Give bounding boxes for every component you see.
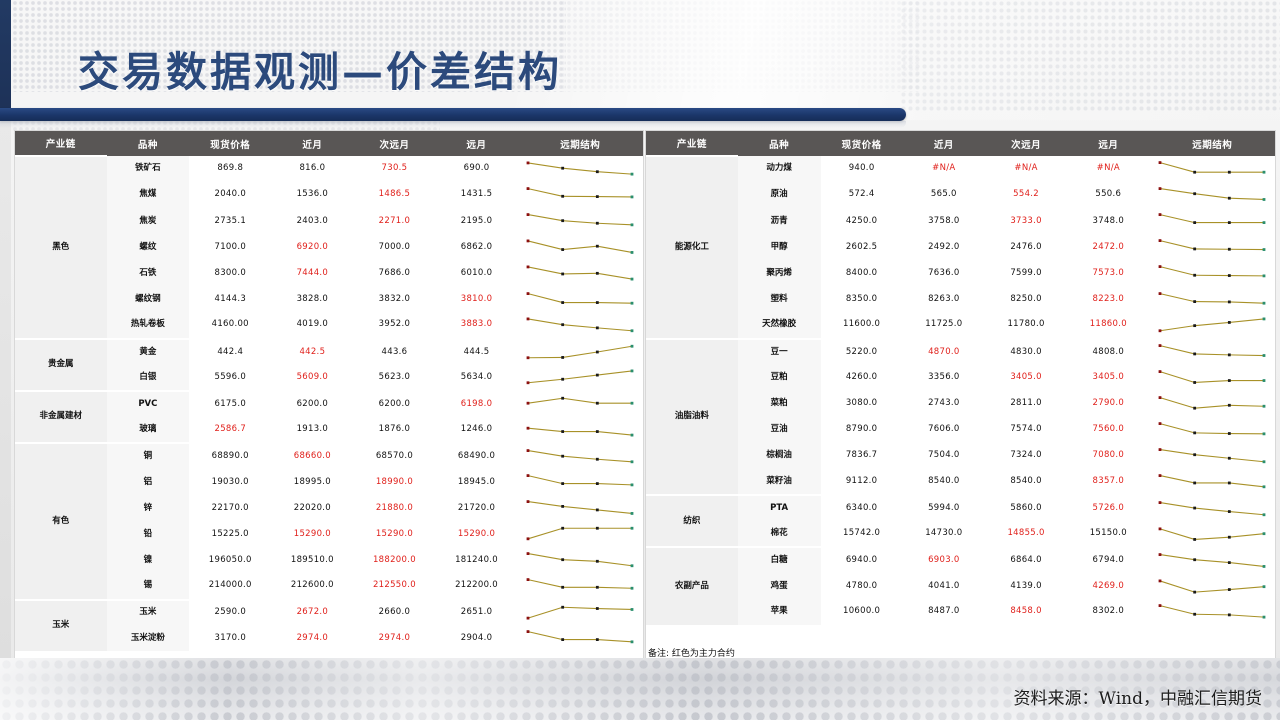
header-row: 产业链品种现货价格近月次远月远月远期结构 [646,131,1275,156]
near-month-cell: #N/A [903,156,985,182]
forward-curve-sparkline [524,183,636,207]
spot-price-cell: 4160.00 [189,313,271,339]
industry-chain-cell: 非金属建材 [15,391,107,443]
sparkline-segment [528,215,563,221]
sparkline-marker-mid [1193,274,1196,277]
sparkline-marker-mid [562,195,565,198]
variety-cell: 苹果 [738,600,821,626]
sparkline-marker-start [1159,422,1162,425]
sparkline-marker-mid [596,222,599,225]
sparkline-marker-mid [562,559,565,562]
table-row[interactable]: 螺纹7100.06920.07000.06862.0 [15,234,643,260]
far-month-cell: 15150.0 [1067,521,1149,547]
sparkline-segment [563,375,598,379]
table-row[interactable]: 沥青4250.03758.03733.03748.0 [646,208,1275,234]
near-month-cell: 7444.0 [271,260,353,286]
table-row[interactable]: 玉米淀粉3170.02974.02974.02904.0 [15,626,643,652]
sparkline-marker-start [1159,604,1162,607]
forward-structure-cell [518,417,643,443]
sparkline-marker-start [1159,579,1162,582]
sparkline-segment [1160,346,1195,354]
variety-cell: 镍 [107,547,190,573]
table-row[interactable]: 聚丙烯8400.07636.07599.07573.0 [646,260,1275,286]
near-month-cell: 22020.0 [271,495,353,521]
sparkline-segment [598,459,633,462]
table-row[interactable]: 菜籽油9112.08540.08540.08357.0 [646,469,1275,495]
forward-structure-cell [518,547,643,573]
title-underline-band [0,108,906,121]
far-month-cell: 3748.0 [1067,208,1149,234]
forward-curve-sparkline [1156,340,1268,364]
sparkline-segment [1195,589,1230,592]
far-month-cell: 7573.0 [1067,260,1149,286]
far-month-cell: 2651.0 [436,600,518,626]
forward-structure-cell [1149,313,1275,339]
industry-chain-cell: 玉米 [15,600,107,652]
far-month-cell: 7560.0 [1067,417,1149,443]
sparkline-marker-end [1263,379,1266,382]
sparkline-marker-mid [1228,561,1231,564]
left-edge-strip [0,118,11,720]
table-row[interactable]: 铅15225.015290.015290.015290.0 [15,521,643,547]
sparkline-segment [1230,534,1265,538]
forward-curve-sparkline [524,340,636,364]
sparkline-marker-mid [562,397,565,400]
table-row[interactable]: 原油572.4565.0554.2550.6 [646,182,1275,208]
sparkline-marker-mid [596,586,599,589]
spot-price-cell: 572.4 [821,182,903,208]
sparkline-marker-mid [596,301,599,304]
sparkline-marker-mid [562,273,565,276]
variety-cell: 黄金 [107,339,190,365]
sparkline-marker-mid [562,505,565,508]
table-row[interactable]: 焦煤2040.01536.01486.51431.5 [15,182,643,208]
sparkline-marker-end [631,565,634,568]
sparkline-segment [528,380,563,384]
near-month-cell: 18995.0 [271,469,353,495]
table-row[interactable]: 热轧卷板4160.004019.03952.03883.0 [15,313,643,339]
column-header-5: 远月 [1067,131,1149,156]
forward-curve-sparkline [1156,575,1268,599]
table-row[interactable]: 苹果10600.08487.08458.08302.0 [646,600,1275,626]
industry-chain-cell: 有色 [15,443,107,600]
spot-price-cell: 6175.0 [189,391,271,417]
table-row[interactable]: 玉米玉米2590.02672.02660.02651.0 [15,600,643,626]
table-row[interactable]: 纺织PTA6340.05994.05860.05726.0 [646,495,1275,521]
sparkline-segment [1195,380,1230,382]
forward-curve-sparkline [524,574,636,598]
variety-cell: 聚丙烯 [738,260,821,286]
variety-cell: 铁矿石 [107,156,190,182]
sparkline-segment [598,510,633,514]
sparkline-segment [1230,458,1265,462]
far-month-cell: 7080.0 [1067,443,1149,469]
sparkline-segment [1160,215,1195,223]
near-month-cell: 14730.0 [903,521,985,547]
near-month-cell: 212600.0 [271,574,353,600]
next-far-month-cell: 443.6 [353,339,435,365]
forward-curve-sparkline [1156,288,1268,312]
sparkline-marker-mid [1193,558,1196,561]
source-note: 资料来源：Wind，中融汇信期货 [1014,684,1262,709]
sparkline-segment [598,172,633,174]
forward-structure-cell [518,574,643,600]
forward-curve-sparkline [524,261,636,285]
sparkline-marker-mid [1193,538,1196,541]
sparkline-segment [1230,511,1265,514]
sparkline-segment [598,346,633,352]
variety-cell: 沥青 [738,208,821,234]
sparkline-marker-mid [1228,171,1231,174]
sparkline-marker-end [1263,565,1266,568]
next-far-month-cell: 14855.0 [985,521,1067,547]
sparkline-marker-mid [562,378,565,381]
far-month-cell: 11860.0 [1067,313,1149,339]
spot-price-cell: 4780.0 [821,574,903,600]
sparkline-segment [1230,586,1265,589]
sparkline-marker-start [1159,240,1162,243]
forward-curve-sparkline [1156,157,1268,181]
near-month-cell: 8540.0 [903,469,985,495]
sparkline-segment [1160,502,1195,507]
table-left-grid: 产业链品种现货价格近月次远月远月远期结构 黑色铁矿石869.8816.0730.… [15,131,643,653]
sparkline-marker-start [1159,448,1162,451]
table-row[interactable]: 黑色铁矿石869.8816.0730.5690.0 [15,156,643,182]
industry-chain-cell: 黑色 [15,156,107,339]
sparkline-segment [598,302,633,303]
near-month-cell: 2743.0 [903,391,985,417]
table-row[interactable]: 油脂油料豆一5220.04870.04830.04808.0 [646,339,1275,365]
spot-price-cell: 214000.0 [189,574,271,600]
far-month-cell: 550.6 [1067,182,1149,208]
sparkline-marker-mid [562,301,565,304]
sparkline-marker-end [1263,405,1266,408]
table-row[interactable]: 鸡蛋4780.04041.04139.04269.0 [646,574,1275,600]
table-row[interactable]: 贵金属黄金442.4442.5443.6444.5 [15,339,643,365]
column-header-1: 品种 [107,131,190,156]
variety-cell: 热轧卷板 [107,313,190,339]
table-row[interactable]: 棕榈油7836.77504.07324.07080.0 [646,443,1275,469]
forward-curve-sparkline [1156,366,1268,390]
variety-cell: 菜籽油 [738,469,821,495]
table-right-grid: 产业链品种现货价格近月次远月远月远期结构 能源化工动力煤940.0#N/A#N/… [646,131,1275,627]
near-month-cell: 6903.0 [903,547,985,573]
sparkline-marker-end [1263,301,1266,304]
sparkline-marker-mid [596,402,599,405]
sparkline-marker-end [1263,616,1266,619]
column-header-6: 远期结构 [518,131,643,156]
sparkline-marker-end [1263,275,1266,278]
forward-curve-sparkline [524,417,636,441]
sparkline-marker-end [1263,248,1266,251]
table-row[interactable]: 非金属建材PVC6175.06200.06200.06198.0 [15,391,643,417]
next-far-month-cell: 2271.0 [353,208,435,234]
forward-structure-cell [1149,260,1275,286]
sparkline-segment [528,189,563,197]
sparkline-marker-start [527,630,530,633]
spot-price-cell: 2602.5 [821,234,903,260]
forward-structure-cell [518,156,643,182]
forward-curve-sparkline [524,522,636,546]
sparkline-segment [598,223,633,225]
price-spread-table-right: 产业链品种现货价格近月次远月远月远期结构 能源化工动力煤940.0#N/A#N/… [645,130,1276,662]
spot-price-cell: 7836.7 [821,443,903,469]
near-month-cell: 5994.0 [903,495,985,521]
next-far-month-cell: 2660.0 [353,600,435,626]
near-month-cell: 4019.0 [271,313,353,339]
spot-price-cell: 869.8 [189,156,271,182]
near-month-cell: 4870.0 [903,339,985,365]
forward-structure-cell [518,365,643,391]
forward-structure-cell [1149,182,1275,208]
forward-structure-cell [1149,417,1275,443]
next-far-month-cell: 5860.0 [985,495,1067,521]
sparkline-marker-mid [1228,321,1231,324]
page-title: 交易数据观测—价差结构 [78,38,562,98]
variety-cell: 原油 [738,182,821,208]
near-month-cell: 15290.0 [271,521,353,547]
spot-price-cell: 4260.0 [821,365,903,391]
far-month-cell: 8302.0 [1067,600,1149,626]
far-month-cell: 2195.0 [436,208,518,234]
forward-curve-sparkline [1156,418,1268,442]
variety-cell: 玉米 [107,600,190,626]
table-row[interactable]: 甲醇2602.52492.02476.02472.0 [646,234,1275,260]
far-month-cell: 2790.0 [1067,391,1149,417]
industry-chain-cell: 纺织 [646,495,738,547]
forward-structure-cell [518,391,643,417]
sparkline-segment [528,632,563,640]
table-row[interactable]: 菜粕3080.02743.02811.02790.0 [646,391,1275,417]
table-left-head: 产业链品种现货价格近月次远月远月远期结构 [15,131,643,156]
sparkline-segment [1230,301,1265,302]
far-month-cell: 6862.0 [436,234,518,260]
far-month-cell: 6010.0 [436,260,518,286]
sparkline-marker-mid [596,509,599,512]
sparkline-segment [1160,555,1195,560]
sparkline-segment [563,507,598,511]
sparkline-segment [1160,163,1195,173]
spot-price-cell: 442.4 [189,339,271,365]
table-row[interactable]: 石铁8300.07444.07686.06010.0 [15,260,643,286]
forward-structure-cell [518,208,643,234]
sparkline-marker-mid [1228,457,1231,460]
variety-cell: 白银 [107,365,190,391]
sparkline-segment [528,399,563,404]
column-header-0: 产业链 [646,131,738,156]
forward-structure-cell [1149,600,1275,626]
sparkline-marker-mid [562,482,565,485]
forward-curve-sparkline [524,496,636,520]
forward-curve-sparkline [1156,497,1268,521]
table-row[interactable]: 豆油8790.07606.07574.07560.0 [646,417,1275,443]
industry-chain-cell: 贵金属 [15,339,107,391]
far-month-cell: 444.5 [436,339,518,365]
sparkline-marker-mid [1193,590,1196,593]
sparkline-segment [1195,508,1230,512]
sparkline-segment [1160,189,1195,194]
spot-price-cell: 10600.0 [821,600,903,626]
sparkline-marker-mid [1193,481,1196,484]
far-month-cell: 3810.0 [436,286,518,312]
forward-curve-sparkline [524,445,636,469]
sparkline-segment [1230,198,1265,199]
column-header-0: 产业链 [15,131,107,156]
next-far-month-cell: 1876.0 [353,417,435,443]
near-month-cell: 6920.0 [271,234,353,260]
sparkline-marker-mid [562,527,565,530]
variety-cell: PTA [738,495,821,521]
sparkline-marker-start [527,187,530,190]
sparkline-marker-end [631,329,634,332]
near-month-cell: 7636.0 [903,260,985,286]
variety-cell: 铅 [107,521,190,547]
near-month-cell: 2403.0 [271,208,353,234]
far-month-cell: 15290.0 [436,521,518,547]
table-row[interactable]: 塑料8350.08263.08250.08223.0 [646,286,1275,312]
sparkline-marker-end [1263,485,1266,488]
forward-curve-sparkline [524,601,636,625]
spot-price-cell: 15742.0 [821,521,903,547]
sparkline-marker-mid [596,351,599,354]
sparkline-marker-end [631,402,634,405]
forward-structure-cell [1149,495,1275,521]
spot-price-cell: 940.0 [821,156,903,182]
next-far-month-cell: 7324.0 [985,443,1067,469]
table-row[interactable]: 玻璃2586.71913.01876.01246.0 [15,417,643,443]
forward-curve-sparkline [1156,549,1268,573]
table-row[interactable]: 锌22170.022020.021880.021720.0 [15,495,643,521]
next-far-month-cell: 212550.0 [353,574,435,600]
sparkline-marker-end [631,278,634,281]
sparkline-marker-start [527,402,530,405]
next-far-month-cell: 2974.0 [353,626,435,652]
far-month-cell: 18945.0 [436,469,518,495]
table-row[interactable]: 镍196050.0189510.0188200.0181240.0 [15,547,643,573]
forward-curve-sparkline [524,209,636,233]
sparkline-marker-mid [1193,192,1196,195]
next-far-month-cell: 6864.0 [985,547,1067,573]
sparkline-segment [1195,537,1230,539]
sparkline-segment [1160,475,1195,482]
far-month-cell: 1431.5 [436,182,518,208]
column-header-3: 近月 [271,131,353,156]
column-header-2: 现货价格 [821,131,903,156]
sparkline-marker-mid [1228,248,1231,251]
sparkline-marker-mid [1228,300,1231,303]
forward-structure-cell [1149,234,1275,260]
sparkline-segment [528,580,563,588]
next-far-month-cell: 3733.0 [985,208,1067,234]
table-row[interactable]: 豆粕4260.03356.03405.03405.0 [646,365,1275,391]
sparkline-segment [598,328,633,331]
sparkline-marker-end [1263,198,1266,201]
sparkline-segment [563,247,598,250]
sparkline-marker-mid [562,356,565,359]
forward-structure-cell [518,626,643,652]
sparkline-marker-mid [562,454,565,457]
variety-cell: 棕榈油 [738,443,821,469]
table-row[interactable]: 农副产品白糖6940.06903.06864.06794.0 [646,547,1275,573]
table-row[interactable]: 棉花15742.014730.014855.015150.0 [646,521,1275,547]
sparkline-marker-start [527,357,530,360]
far-month-cell: 6794.0 [1067,547,1149,573]
sparkline-segment [563,325,598,328]
variety-cell: 螺纹钢 [107,286,190,312]
variety-cell: 玉米淀粉 [107,626,190,652]
sparkline-marker-mid [1228,432,1231,435]
sparkline-marker-mid [1193,353,1196,356]
variety-cell: 豆一 [738,339,821,365]
sparkline-segment [563,274,598,275]
column-header-1: 品种 [738,131,821,156]
sparkline-marker-end [631,484,634,487]
forward-structure-cell [1149,391,1275,417]
variety-cell: 塑料 [738,286,821,312]
header-row: 产业链品种现货价格近月次远月远月远期结构 [15,131,643,156]
table-row[interactable]: 焦炭2735.12403.02271.02195.0 [15,208,643,234]
table-row[interactable]: 有色铜68890.068660.068570.068490.0 [15,443,643,469]
forward-structure-cell [1149,574,1275,600]
sparkline-marker-mid [1193,171,1196,174]
table-row[interactable]: 能源化工动力煤940.0#N/A#N/A#N/A [646,156,1275,182]
table-row[interactable]: 天然橡胶11600.011725.011780.011860.0 [646,313,1275,339]
spot-price-cell: 3170.0 [189,626,271,652]
next-far-month-cell: 21880.0 [353,495,435,521]
spot-price-cell: 11600.0 [821,313,903,339]
far-month-cell: 2904.0 [436,626,518,652]
forward-structure-cell [1149,547,1275,573]
sparkline-marker-end [631,460,634,463]
sparkline-marker-start [527,553,530,556]
spot-price-cell: 9112.0 [821,469,903,495]
near-month-cell: 816.0 [271,156,353,182]
sparkline-marker-mid [596,560,599,563]
sparkline-segment [598,562,633,566]
sparkline-marker-mid [562,248,565,251]
spot-price-cell: 3080.0 [821,391,903,417]
table-row[interactable]: 铝19030.018995.018990.018945.0 [15,469,643,495]
far-month-cell: 1246.0 [436,417,518,443]
sparkline-marker-end [631,641,634,644]
near-month-cell: 442.5 [271,339,353,365]
sparkline-segment [1160,580,1195,591]
sparkline-marker-end [631,370,634,373]
spot-price-cell: 5596.0 [189,365,271,391]
sparkline-marker-mid [562,586,565,589]
far-month-cell: 8223.0 [1067,286,1149,312]
sparkline-segment [528,502,563,507]
price-spread-table-left: 产业链品种现货价格近月次远月远月远期结构 黑色铁矿石869.8816.0730.… [14,130,644,662]
sparkline-marker-end [1263,354,1266,357]
next-far-month-cell: 3952.0 [353,313,435,339]
sparkline-marker-start [527,578,530,581]
sparkline-marker-start [527,162,530,165]
sparkline-marker-mid [1228,536,1231,539]
sparkline-segment [598,274,633,280]
table-row[interactable]: 白银5596.05609.05623.05634.0 [15,365,643,391]
table-row[interactable]: 锡214000.0212600.0212550.0212200.0 [15,574,643,600]
spot-price-cell: 4144.3 [189,286,271,312]
next-far-month-cell: 6200.0 [353,391,435,417]
next-far-month-cell: 4830.0 [985,339,1067,365]
table-row[interactable]: 螺纹钢4144.33828.03832.03810.0 [15,286,643,312]
next-far-month-cell: 68570.0 [353,443,435,469]
sparkline-marker-end [1263,171,1266,174]
spot-price-cell: 22170.0 [189,495,271,521]
forward-curve-sparkline [524,470,636,494]
sparkline-marker-start [527,449,530,452]
